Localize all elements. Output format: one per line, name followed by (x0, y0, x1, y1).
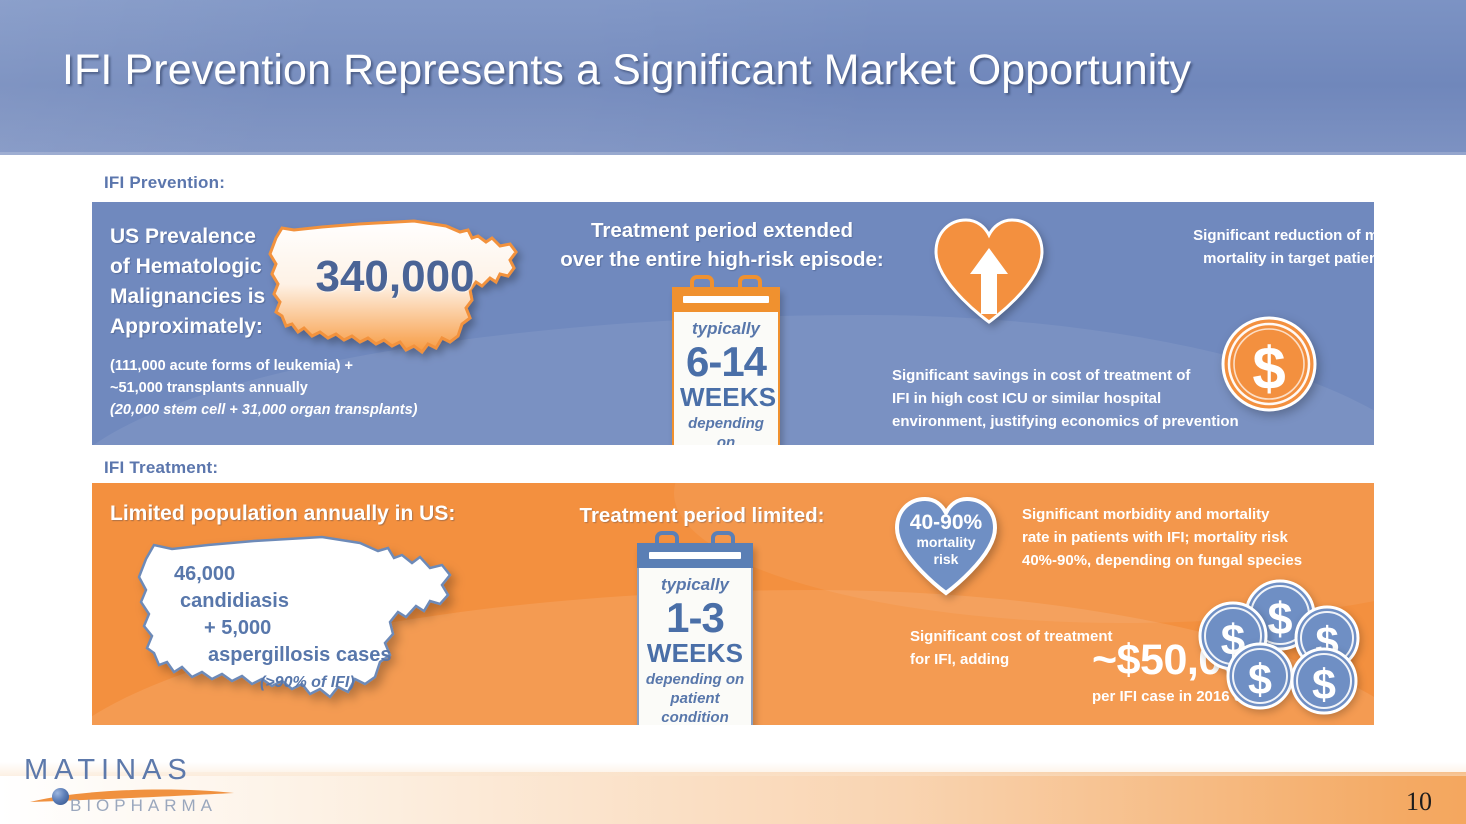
page-title: IFI Prevention Represents a Significant … (62, 46, 1191, 95)
prevention-savings-text-line3: environment, justifying economics of pre… (892, 410, 1322, 433)
prevention-heart-text-line1: Significant reduction of morbidity and (1054, 224, 1374, 247)
calendar-typically-label: typically (645, 574, 745, 596)
calendar-body: typically 6-14 WEEKS depending on patien… (672, 312, 780, 445)
treatment-map-line2: candidiasis (174, 588, 391, 615)
prevention-panel: US Prevalence of Hematologic Malignancie… (92, 202, 1374, 445)
slide-header-band: IFI Prevention Represents a Significant … (0, 0, 1466, 155)
prevention-subnote-line2: ~51,000 transplants annually (110, 377, 417, 399)
coin-cluster: $ $ $ $ $ (1197, 578, 1374, 713)
calendar-unit-label: WEEKS (645, 639, 745, 667)
prevention-headline-line4: Approximately: (110, 312, 265, 342)
calendar-rings (637, 531, 753, 547)
svg-text:$: $ (1312, 661, 1336, 709)
prevention-center-heading-line1: Treatment period extended (542, 216, 902, 245)
prevention-heart-text: Significant reduction of morbidity and m… (1054, 224, 1374, 270)
logo-secondary-text: BIOPHARMA (70, 796, 217, 816)
dollar-coin-icon: $ (1289, 646, 1359, 716)
calendar-icon-treatment: typically 1-3 WEEKS depending on patient… (637, 543, 753, 725)
company-logo: MATINAS BIOPHARMA (22, 754, 252, 816)
calendar-note-line1: depending on (645, 670, 745, 689)
calendar-header-stripe (683, 296, 769, 303)
prevention-center-heading: Treatment period extended over the entir… (542, 216, 902, 274)
calendar-header-stripe (649, 552, 742, 559)
calendar-note: depending on patient type (680, 414, 772, 445)
prevention-headline-line2: of Hematologic (110, 252, 265, 282)
prevention-heart-text-line2: mortality in target patient population (1054, 247, 1374, 270)
treatment-map-line3: + 5,000 (174, 615, 391, 642)
heart-up-arrow-icon (928, 214, 1050, 326)
prevention-map-value: 340,000 (264, 252, 526, 302)
calendar-body: typically 1-3 WEEKS depending on patient… (637, 568, 753, 725)
prevention-subnote-line3: (20,000 stem cell + 31,000 organ transpl… (110, 399, 417, 421)
us-map-treatment: 46,000 candidiasis + 5,000 aspergillosis… (132, 531, 462, 725)
svg-text:$: $ (1267, 593, 1292, 644)
treatment-mortality-text-line3: 40%-90%, depending on fungal species (1022, 549, 1374, 572)
svg-text:$: $ (1252, 335, 1285, 402)
treatment-map-text: 46,000 candidiasis + 5,000 aspergillosis… (174, 561, 391, 696)
treatment-mortality-text-line1: Significant morbidity and mortality (1022, 503, 1374, 526)
page-number: 10 (1406, 787, 1432, 817)
calendar-note-line2: patient condition (645, 689, 745, 725)
treatment-map-line1: 46,000 (174, 561, 391, 588)
calendar-note-line1: depending on (680, 414, 772, 445)
section-caption-prevention: IFI Prevention: (104, 173, 225, 193)
treatment-map-line4: aspergillosis cases (174, 642, 391, 669)
calendar-ring-right-icon (738, 275, 762, 296)
treatment-headline-text: Limited population annually in US: (110, 499, 455, 529)
dollar-coin-icon: $ (1225, 641, 1295, 711)
calendar-ring-left-icon (690, 275, 714, 296)
prevention-headline-line3: Malignancies is (110, 282, 265, 312)
treatment-headline: Limited population annually in US: (110, 499, 455, 529)
calendar-icon-prevention: typically 6-14 WEEKS depending on patien… (672, 287, 780, 445)
calendar-ring-left-icon (655, 531, 679, 552)
treatment-mortality-text: Significant morbidity and mortality rate… (1022, 503, 1374, 572)
prevention-center-heading-line2: over the entire high-risk episode: (542, 245, 902, 274)
dollar-coin-icon: $ (1220, 315, 1318, 413)
treatment-map-line5: (>90% of IFI) (174, 669, 391, 696)
calendar-rings (672, 275, 780, 291)
svg-text:$: $ (1248, 656, 1272, 704)
section-caption-treatment: IFI Treatment: (104, 458, 218, 478)
calendar-ring-right-icon (711, 531, 735, 552)
prevention-headline-line1: US Prevalence (110, 222, 265, 252)
calendar-range-value: 1-3 (645, 596, 745, 639)
calendar-range-value: 6-14 (680, 340, 772, 383)
logo-dot-icon (52, 788, 69, 805)
logo-primary-text: MATINAS (24, 754, 193, 787)
calendar-typically-label: typically (680, 318, 772, 340)
prevention-headline: US Prevalence of Hematologic Malignancie… (110, 222, 265, 342)
treatment-mortality-text-line2: rate in patients with IFI; mortality ris… (1022, 526, 1374, 549)
calendar-note: depending on patient condition and impro… (645, 670, 745, 725)
heart-mortality-icon (890, 493, 1002, 597)
treatment-panel: Limited population annually in US: 46,00… (92, 483, 1374, 725)
us-map-prevention: 340,000 (264, 216, 526, 376)
calendar-unit-label: WEEKS (680, 383, 772, 411)
treatment-center-heading: Treatment period limited: (532, 501, 872, 530)
